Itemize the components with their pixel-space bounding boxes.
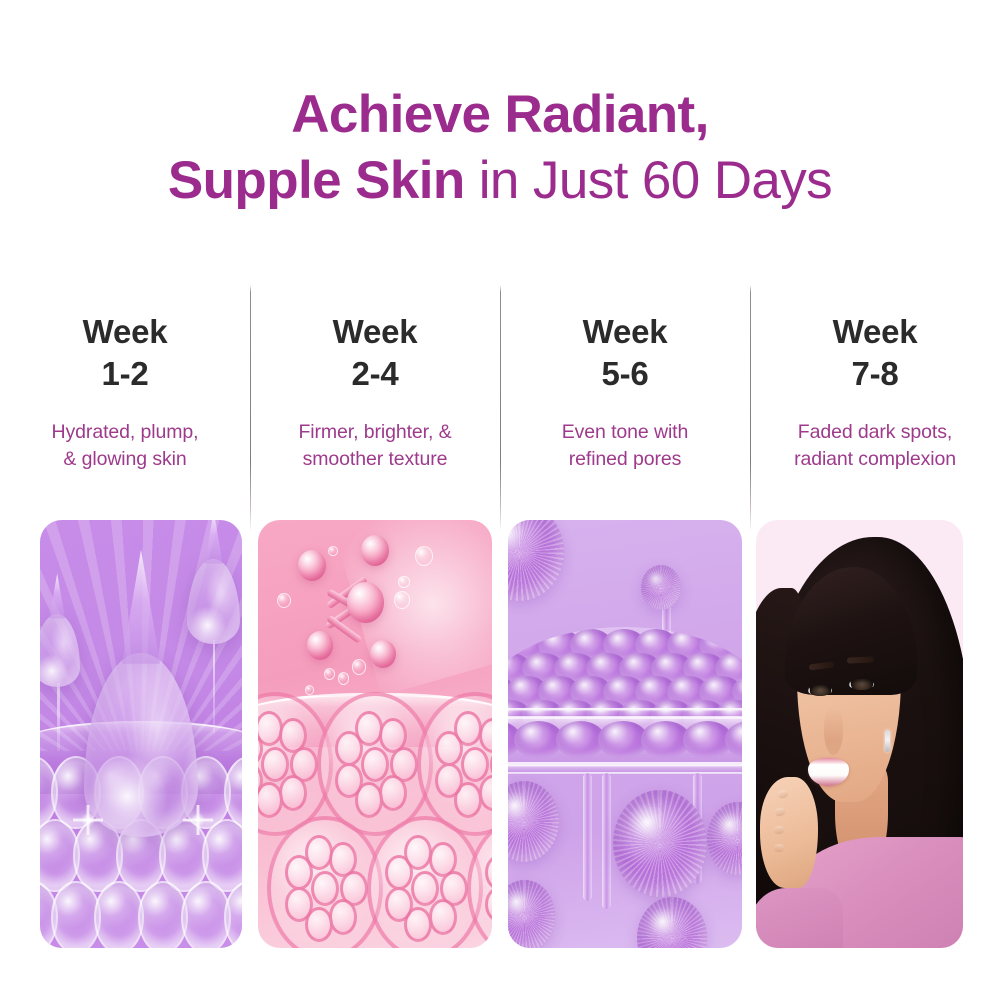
smiling-woman-portrait-image [756,520,963,948]
week-label-1: Week [83,313,168,350]
week-range-4: 7-8 [750,353,1000,395]
week-desc-2-line-1: Firmer, brighter, & [258,419,492,445]
molecule-node-bottom-left [307,631,333,659]
week-heading-4: Week 7-8 [750,311,1000,395]
purple-pore-spheres-image [508,520,742,948]
bubble [224,756,242,829]
pink-molecule-image [258,520,492,948]
nose [824,708,843,755]
cell-bubble [267,816,383,948]
stalk-mid [602,773,611,910]
week-column-3: Week 5-6 Even tone with refined pores [500,283,750,553]
week-range-1: 1-2 [0,353,250,395]
finger-2 [774,807,785,817]
week-range-2: 2-4 [250,353,500,395]
infographic-canvas: Achieve Radiant, Supple Skin in Just 60 … [0,0,1000,1000]
finger-4 [774,843,784,851]
finger-1 [777,789,789,800]
eye-left [808,685,832,696]
week-column-4: Week 7-8 Faded dark spots, radiant compl… [750,283,1000,553]
page-title: Achieve Radiant, Supple Skin in Just 60 … [0,82,1000,213]
title-bold-part-2: Supple Skin [168,151,465,210]
orb-bottom-far-left [508,880,555,948]
orb-top-right [641,565,681,610]
orb-top-left [508,520,564,601]
week-column-2: Week 2-4 Firmer, brighter, & smoother te… [250,283,500,553]
molecule-node-bottom-right [370,640,396,668]
title-bold-part-1: Achieve Radiant, [291,85,708,144]
cell-bubble [367,816,483,948]
title-line-1: Achieve Radiant, [0,82,1000,148]
earring [885,730,890,752]
week-desc-2-line-2: smoother texture [258,446,492,472]
hand-on-chin [760,777,818,888]
orb-bottom-right [707,802,742,875]
image-slot-4 [750,520,1000,948]
orb-bottom-center [613,790,707,897]
bubble [138,881,188,948]
tiny-bubble-5 [352,659,366,674]
week-desc-3-line-1: Even tone with [508,419,742,445]
week-desc-1-line-1: Hydrated, plump, [8,419,242,445]
molecule-node-top-right [361,535,389,566]
stalk-left [583,773,592,901]
tiny-bubble-4 [394,591,410,609]
week-desc-4-line-2: radiant complexion [758,446,992,472]
week-description-4: Faded dark spots, radiant complexion [750,419,1000,471]
finger-3 [774,825,785,834]
week-columns: Week 1-2 Hydrated, plump, & glowing skin… [0,283,1000,553]
sparkle-icon-right [183,805,213,835]
title-line-2: Supple Skin in Just 60 Days [0,148,1000,214]
tiny-bubble-8 [305,685,314,695]
week-label-3: Week [583,313,668,350]
purple-water-droplet-image [40,520,242,948]
orb-bottom-far-right [637,897,707,948]
bubble [94,881,144,948]
week-desc-1-line-2: & glowing skin [8,446,242,472]
pore-pellet [725,721,742,757]
week-label-4: Week [833,313,918,350]
sparkle-icon-left [73,805,103,835]
pellet-row-band [508,717,742,764]
droplet-stem-left [57,683,60,751]
image-slot-3 [500,520,750,948]
tiny-bubble-6 [324,668,336,681]
tiny-bubble-9 [328,546,337,556]
week-heading-1: Week 1-2 [0,311,250,395]
molecule-node-top-left [298,550,326,581]
cell-bubble [317,692,433,836]
title-light-part: in Just 60 Days [465,151,832,210]
week-label-2: Week [333,313,418,350]
week-desc-3-line-2: refined pores [508,446,742,472]
week-description-2: Firmer, brighter, & smoother texture [250,419,500,471]
cell-bubble [417,692,492,836]
week-description-1: Hydrated, plump, & glowing skin [0,419,250,471]
image-slot-1 [0,520,250,948]
week-heading-3: Week 5-6 [500,311,750,395]
plate-lower [508,764,742,774]
week-column-1: Week 1-2 Hydrated, plump, & glowing skin [0,283,250,553]
orb-bottom-left [508,781,559,862]
image-slot-2 [250,520,500,948]
cell-cluster-bed [258,700,492,948]
week-desc-4-line-1: Faded dark spots, [758,419,992,445]
week-heading-2: Week 2-4 [250,311,500,395]
week-description-3: Even tone with refined pores [500,419,750,471]
week-range-3: 5-6 [500,353,750,395]
tiny-bubble-7 [338,672,350,685]
pink-shirt-sleeve [756,888,843,948]
droplet-stem-right [213,640,216,734]
image-card-row [0,520,1000,948]
tiny-bubble-1 [277,593,291,608]
